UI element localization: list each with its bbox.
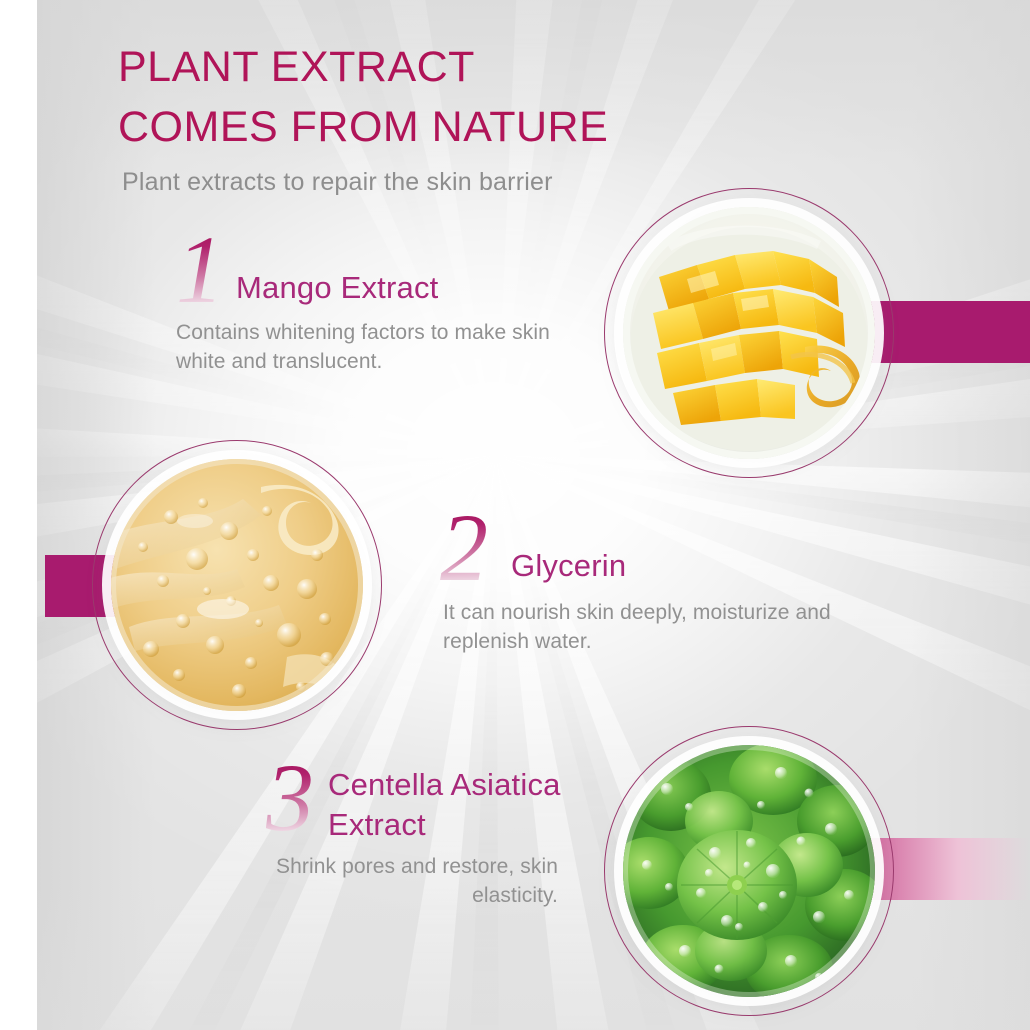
item-number-1: 1 [176,222,224,318]
headline-line-1: PLANT EXTRACT [118,43,475,91]
page-title: PLANT EXTRACT COMES FROM NATURE [118,37,938,157]
item-number-3: 3 [266,750,314,846]
headline-line-2: COMES FROM NATURE [118,97,938,157]
product-ingredient-poster: PLANT EXTRACT COMES FROM NATURE Plant ex… [0,0,1030,1030]
item-number-2: 2 [440,500,488,596]
item-title-glycerin: Glycerin [511,546,931,586]
centella-leaves-photo [623,745,875,997]
item-body-glycerin: It can nourish skin deeply, moisturize a… [443,598,843,656]
item-title-centella: Centella Asiatica Extract [328,765,658,845]
item-body-centella: Shrink pores and restore, skin elasticit… [258,852,558,910]
item-body-mango: Contains whitening factors to make skin … [176,318,576,376]
left-white-margin [0,0,37,1030]
glycerin-gel-photo [111,459,363,711]
mango-cubes-photo [623,207,875,459]
item-title-mango: Mango Extract [236,268,656,308]
page-subtitle: Plant extracts to repair the skin barrie… [122,165,942,199]
